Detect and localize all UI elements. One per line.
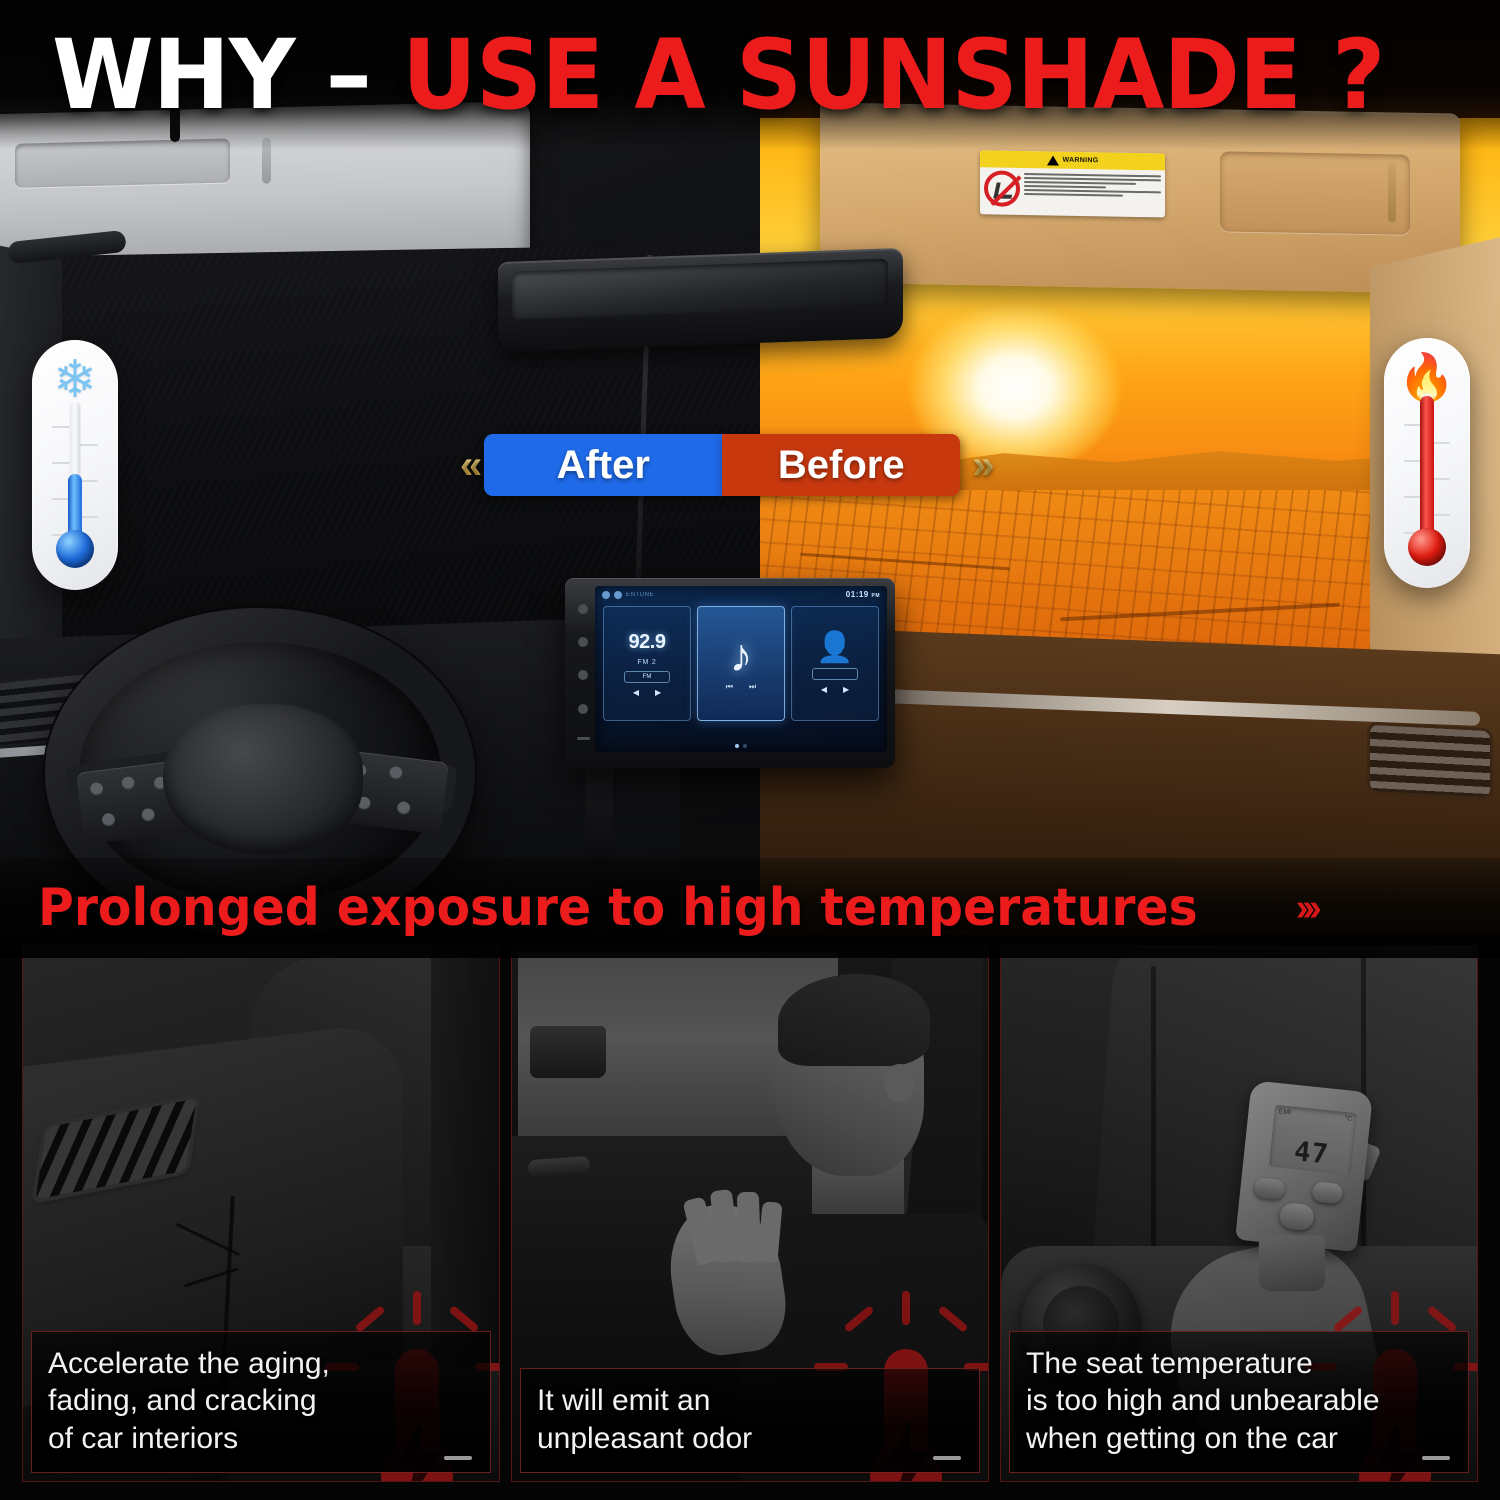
warning-triangle-icon: [1047, 155, 1059, 165]
eject-key-icon[interactable]: [577, 737, 590, 740]
child-seat-glyph: [993, 182, 1014, 198]
visor-mirror-cover: [1220, 151, 1410, 234]
caption-text: It will emit an unpleasant odor: [537, 1382, 963, 1458]
ir-unit-label: °C: [1344, 1115, 1353, 1123]
panel-unpleasant-odor: It will emit an unpleasant odor: [511, 945, 989, 1482]
ground-crack: [1060, 603, 1340, 622]
panel-hot-seat: 47 EMI °C: [1000, 945, 1478, 1482]
status-left: ENTUNE: [602, 591, 654, 599]
media-key-icon[interactable]: [578, 670, 588, 680]
radio-frequency: 92.9: [629, 631, 666, 654]
clock-ampm: PM: [872, 593, 881, 599]
power-knob-icon[interactable]: [578, 604, 588, 614]
chevron-right-icon: »: [960, 443, 996, 488]
wheel-button: [389, 766, 403, 780]
seek-next-icon[interactable]: ▶: [655, 688, 661, 697]
profile-prev-icon[interactable]: ◀: [821, 685, 827, 694]
warning-text-lines: [1024, 171, 1161, 209]
door-pillar: [431, 946, 500, 1366]
media-transport-controls[interactable]: ⏮ ⏭: [726, 682, 756, 692]
wheel-button: [396, 801, 410, 815]
title-phrase-red: USE A SUNSHADE ?: [402, 19, 1384, 131]
snowflake-icon: ❄: [53, 354, 97, 406]
bluetooth-icon: [602, 591, 610, 599]
ground-crack: [800, 553, 1010, 571]
music-note-icon: ♪: [730, 635, 753, 676]
rear-view-mirror: [498, 248, 903, 352]
thermometer-bulb-hot: [1408, 528, 1446, 566]
title-word-why: WHY: [52, 19, 295, 131]
apps-key-icon[interactable]: [578, 704, 588, 714]
preset-pill[interactable]: FM: [624, 671, 670, 683]
thermometer-bulb-cold: [56, 530, 94, 568]
wheel-button: [141, 808, 155, 822]
radio-band: FM 2: [637, 659, 656, 666]
skip-forward-icon[interactable]: ⏭: [749, 682, 756, 692]
chevrons-right-icon: ›››: [1296, 887, 1316, 930]
hair: [778, 974, 930, 1066]
screen-tiles: 92.9 FM 2 FM ◀ ▶ ♪ ⏮: [595, 599, 887, 721]
page-dot-active[interactable]: [735, 744, 739, 748]
skip-back-icon[interactable]: ⏮: [726, 682, 733, 692]
profile-nav-controls[interactable]: ◀ ▶: [821, 685, 849, 694]
thermometer-mercury-hot: [1420, 396, 1434, 544]
radio-tile[interactable]: 92.9 FM 2 FM ◀ ▶: [603, 606, 691, 721]
ir-unit-button[interactable]: [1311, 1181, 1343, 1204]
preset-label: FM: [643, 674, 652, 680]
panel-caption: It will emit an unpleasant odor: [520, 1368, 980, 1473]
screen-status-bar: ENTUNE 01:19 PM: [595, 586, 887, 599]
before-badge[interactable]: Before: [722, 434, 960, 496]
page-indicator-dots[interactable]: [595, 744, 887, 748]
page-dot[interactable]: [743, 744, 747, 748]
warning-heading: WARNING: [1063, 157, 1099, 165]
wheel-button: [121, 776, 135, 790]
seat-setting-pill[interactable]: [812, 668, 858, 680]
ir-handle: [1259, 1235, 1325, 1291]
profile-tile[interactable]: 👤 ◀ ▶: [791, 606, 879, 721]
airbag-warning-label: WARNING: [980, 150, 1165, 217]
profile-next-icon[interactable]: ▶: [843, 685, 849, 694]
infrared-thermometer: 47 EMI °C: [1223, 1079, 1381, 1292]
warning-body: [980, 167, 1165, 212]
title-bar: WHY – USE A SUNSHADE ?: [0, 0, 1500, 150]
chevron-left-icon: «: [448, 443, 484, 488]
ir-emissivity-label: EMI: [1278, 1108, 1291, 1116]
mirror-glass: [512, 258, 888, 319]
ir-laser-button[interactable]: [1279, 1202, 1316, 1231]
before-after-toggle: « After Before »: [448, 434, 997, 496]
heat-warning-text: Prolonged exposure to high temperatures: [38, 878, 1198, 938]
panel-aging-interior: Accelerate the aging, fading, and cracki…: [22, 945, 500, 1482]
title-dash: –: [295, 19, 402, 131]
air-vent-right: [1370, 725, 1490, 797]
head-unit-brand: ENTUNE: [626, 592, 654, 598]
panel-caption: Accelerate the aging, fading, and cracki…: [31, 1331, 491, 1473]
wheel-button: [89, 782, 103, 796]
media-tile[interactable]: ♪ ⏮ ⏭: [697, 606, 785, 721]
caption-text: Accelerate the aging, fading, and cracki…: [48, 1345, 474, 1458]
wheel-button: [101, 813, 115, 827]
caption-text: The seat temperature is too high and unb…: [1026, 1345, 1452, 1458]
airbag-hub: [163, 704, 363, 854]
caption-underscore: [933, 1456, 961, 1460]
clock: 01:19 PM: [846, 590, 880, 599]
visor-grip: [1388, 162, 1396, 222]
person-icon: 👤: [816, 633, 853, 663]
caption-underscore: [444, 1456, 472, 1460]
ir-temperature-reading: 47: [1293, 1138, 1330, 1168]
ir-mode-button[interactable]: [1254, 1177, 1286, 1200]
panel-caption: The seat temperature is too high and unb…: [1009, 1331, 1469, 1473]
seek-prev-icon[interactable]: ◀: [633, 688, 639, 697]
side-mirror: [530, 1026, 606, 1078]
hot-thermometer: 🔥: [1384, 338, 1470, 588]
page-title: WHY – USE A SUNSHADE ?: [52, 27, 1384, 123]
head-unit-screen[interactable]: ENTUNE 01:19 PM 92.9 FM 2 FM ◀ ▶: [595, 586, 887, 752]
consequences-grid: Accelerate the aging, fading, and cracki…: [0, 945, 1500, 1500]
ear: [884, 1064, 914, 1102]
head-unit-side-keys[interactable]: [573, 592, 593, 752]
cold-thermometer: ❄: [32, 340, 118, 590]
radio-seek-controls[interactable]: ◀ ▶: [633, 688, 661, 697]
after-badge[interactable]: After: [484, 434, 722, 496]
heat-warning-banner: Prolonged exposure to high temperatures …: [0, 858, 1500, 958]
infographic-page: WARNING: [0, 0, 1500, 1500]
head-unit-mount: [585, 760, 613, 860]
volume-knob-icon[interactable]: [578, 637, 588, 647]
no-child-seat-icon: [984, 170, 1020, 207]
ir-body: 47 EMI °C: [1235, 1080, 1373, 1252]
infotainment-head-unit[interactable]: ENTUNE 01:19 PM 92.9 FM 2 FM ◀ ▶: [565, 578, 895, 768]
signal-icon: [614, 591, 622, 599]
caption-underscore: [1422, 1456, 1450, 1460]
